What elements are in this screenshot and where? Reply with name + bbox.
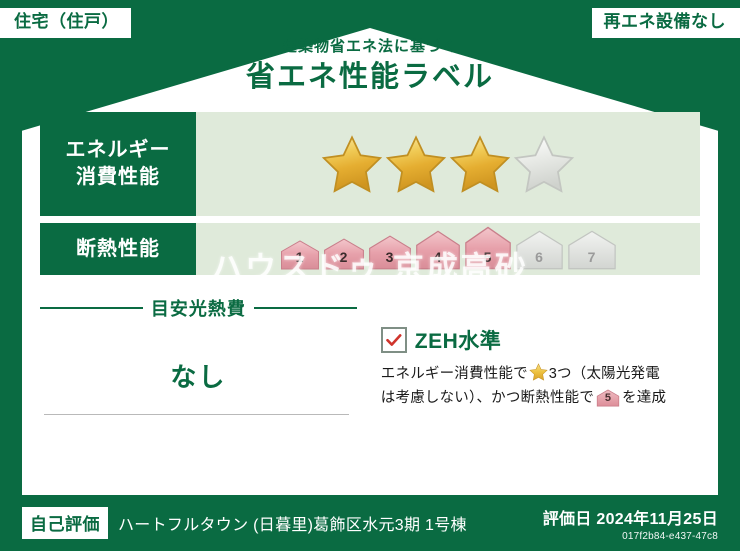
zeh-note: エネルギー消費性能で3つ（太陽光発電 は考慮しない）、かつ断熱性能で5を達成	[381, 363, 700, 411]
label-footer: 自己評価 ハートフルタウン (日暮里)葛飾区水元3期 1号棟 評価日 2024年…	[0, 495, 740, 551]
rule-right	[254, 307, 357, 309]
evaluation-date-value: 2024年11月25日	[596, 511, 718, 528]
lower-section: 目安光熱費 なし ZEH水準 エネルギー消費性能で3つ（太陽光発電	[40, 291, 700, 411]
energy-label-line1: エネルギー	[66, 137, 171, 164]
evaluation-meta: 評価日 2024年11月25日 017f2b84-e437-47c8	[543, 505, 718, 542]
check-icon	[386, 334, 402, 347]
label-content: エネルギー 消費性能 断熱性能 1234567 目安光熱費	[40, 112, 700, 485]
zeh-header: ZEH水準	[381, 325, 700, 355]
rule-left	[40, 307, 143, 309]
zeh-note-part3: は考慮しない）、かつ断熱性能で	[381, 390, 594, 406]
house-filled-icon: 5	[596, 389, 620, 407]
property-name: ハートフルタウン (日暮里)葛飾区水元3期 1号棟	[118, 511, 467, 535]
energy-performance-key: エネルギー 消費性能	[40, 112, 196, 216]
building-type-badge: 住宅（住戸）	[0, 8, 131, 38]
utility-cost-section: 目安光熱費 なし	[40, 291, 357, 411]
watermark-overlay: ハウスドゥ 京成高砂	[40, 236, 700, 294]
zeh-checkbox[interactable]	[381, 327, 407, 353]
utility-cost-value: なし	[40, 357, 357, 394]
star-filled-icon	[449, 134, 511, 194]
star-filled-icon	[529, 363, 548, 381]
utility-cost-underline	[44, 414, 349, 415]
star-rating	[321, 134, 575, 194]
evaluation-id: 017f2b84-e437-47c8	[543, 531, 718, 542]
zeh-note-part1: エネルギー消費性能で	[381, 366, 528, 382]
utility-cost-header: 目安光熱費	[40, 295, 357, 321]
star-filled-icon	[321, 134, 383, 194]
star-empty-icon	[513, 134, 575, 194]
self-evaluation-badge: 自己評価	[22, 507, 108, 539]
zeh-title: ZEH水準	[415, 325, 502, 355]
zeh-note-part4: を達成	[622, 390, 666, 406]
watermark-text: ハウスドゥ 京成高砂	[40, 243, 700, 288]
energy-performance-label: 住宅（住戸） 再エネ設備なし 建築物省エネ法に基づく 省エネ性能ラベル エネルギ…	[0, 0, 740, 551]
house-badge-number: 5	[596, 389, 620, 407]
star-filled-icon	[385, 134, 447, 194]
zeh-note-part2: 3つ（太陽光発電	[549, 366, 660, 382]
zeh-section: ZEH水準 エネルギー消費性能で3つ（太陽光発電 は考慮しない）、かつ断熱性能で…	[357, 291, 700, 411]
energy-performance-row: エネルギー 消費性能	[40, 112, 700, 216]
evaluation-date-label: 評価日	[543, 511, 592, 528]
energy-label-line2: 消費性能	[76, 164, 160, 191]
utility-cost-title: 目安光熱費	[151, 295, 246, 321]
renewable-energy-badge: 再エネ設備なし	[592, 8, 740, 38]
energy-performance-value	[196, 112, 700, 216]
evaluation-date: 評価日 2024年11月25日	[543, 511, 718, 528]
